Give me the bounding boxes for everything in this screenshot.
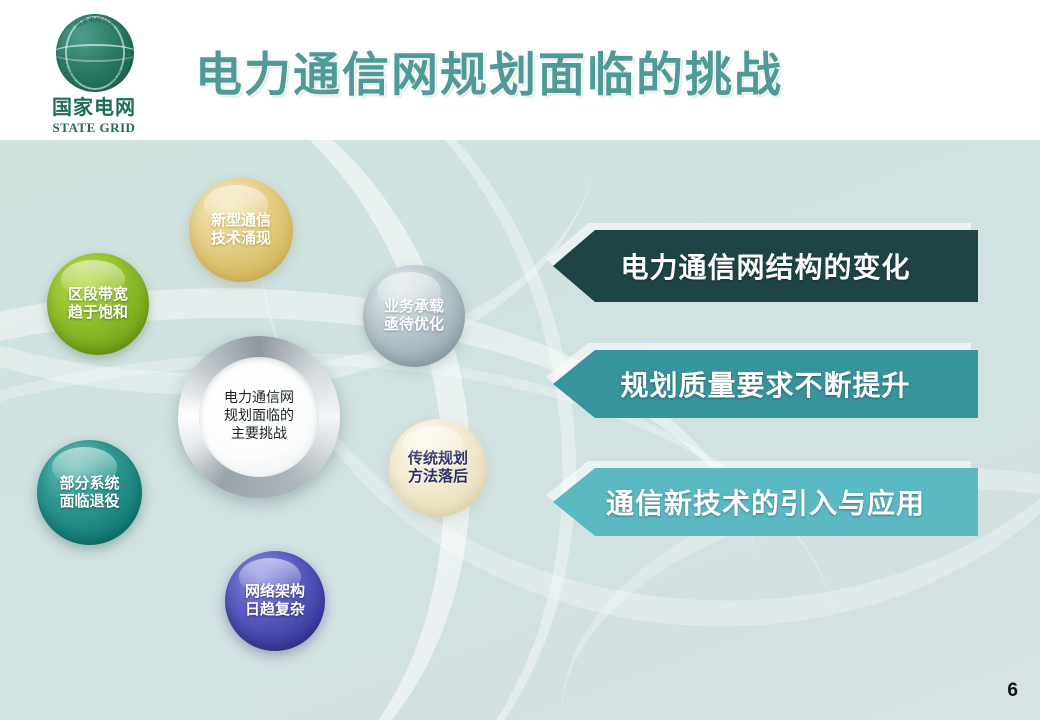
emblem-ring-text-icon: 国家电网公司 STATE GRID CORPORATION OF CHINA bbox=[56, 14, 134, 92]
bubble-system-retirement[interactable]: 部分系统 面临退役 bbox=[37, 440, 142, 545]
bubble-new-technologies[interactable]: 新型通信 技术涌现 bbox=[189, 178, 293, 282]
diagram-hub-label: 电力通信网 规划面临的 主要挑战 bbox=[224, 390, 294, 444]
banner-label: 规划质量要求不断提升 bbox=[620, 364, 910, 404]
bubble-legacy-methods[interactable]: 传统规划 方法落后 bbox=[389, 419, 487, 517]
state-grid-logo: 国家电网公司 STATE GRID CORPORATION OF CHINA 国… bbox=[34, 14, 154, 136]
diagram-hub-inner: 电力通信网 规划面临的 主要挑战 bbox=[199, 357, 319, 477]
banner-planning-quality[interactable]: 规划质量要求不断提升 bbox=[553, 350, 978, 418]
slide-header: 国家电网公司 STATE GRID CORPORATION OF CHINA 国… bbox=[0, 0, 1040, 140]
banner-label: 电力通信网结构的变化 bbox=[620, 246, 910, 286]
diagram-hub[interactable]: 电力通信网 规划面临的 主要挑战 bbox=[178, 336, 340, 498]
slide-canvas: 区段带宽 趋于饱和 新型通信 技术涌现 业务承载 亟待优化 部分系统 面临退役 … bbox=[0, 0, 1040, 720]
banner-new-tech-application[interactable]: 通信新技术的引入与应用 bbox=[553, 468, 978, 536]
banner-label: 通信新技术的引入与应用 bbox=[606, 482, 925, 522]
svg-text:STATE GRID CORPORATION OF CHIN: STATE GRID CORPORATION OF CHINA bbox=[56, 14, 131, 89]
svg-text:国家电网公司: 国家电网公司 bbox=[74, 15, 117, 30]
logo-name-cn: 国家电网 bbox=[34, 96, 154, 118]
bubble-label: 新型通信 技术涌现 bbox=[211, 212, 271, 247]
bubble-label: 区段带宽 趋于饱和 bbox=[68, 286, 128, 321]
bubble-label: 业务承载 亟待优化 bbox=[384, 298, 444, 333]
logo-name-en: STATE GRID bbox=[34, 120, 154, 136]
bubble-label: 部分系统 面临退役 bbox=[59, 475, 119, 510]
bubble-label: 网络架构 日趋复杂 bbox=[245, 583, 305, 618]
banner-network-structure-change[interactable]: 电力通信网结构的变化 bbox=[553, 230, 978, 302]
bubble-service-bearing[interactable]: 业务承载 亟待优化 bbox=[363, 265, 465, 367]
bubble-bandwidth-saturation[interactable]: 区段带宽 趋于饱和 bbox=[47, 253, 149, 355]
page-title: 电力通信网规划面临的挑战 bbox=[195, 46, 783, 106]
page-number: 6 bbox=[1007, 680, 1018, 702]
bubble-label: 传统规划 方法落后 bbox=[408, 450, 468, 485]
state-grid-emblem-icon: 国家电网公司 STATE GRID CORPORATION OF CHINA bbox=[56, 14, 134, 92]
bubble-complex-architecture[interactable]: 网络架构 日趋复杂 bbox=[225, 551, 325, 651]
